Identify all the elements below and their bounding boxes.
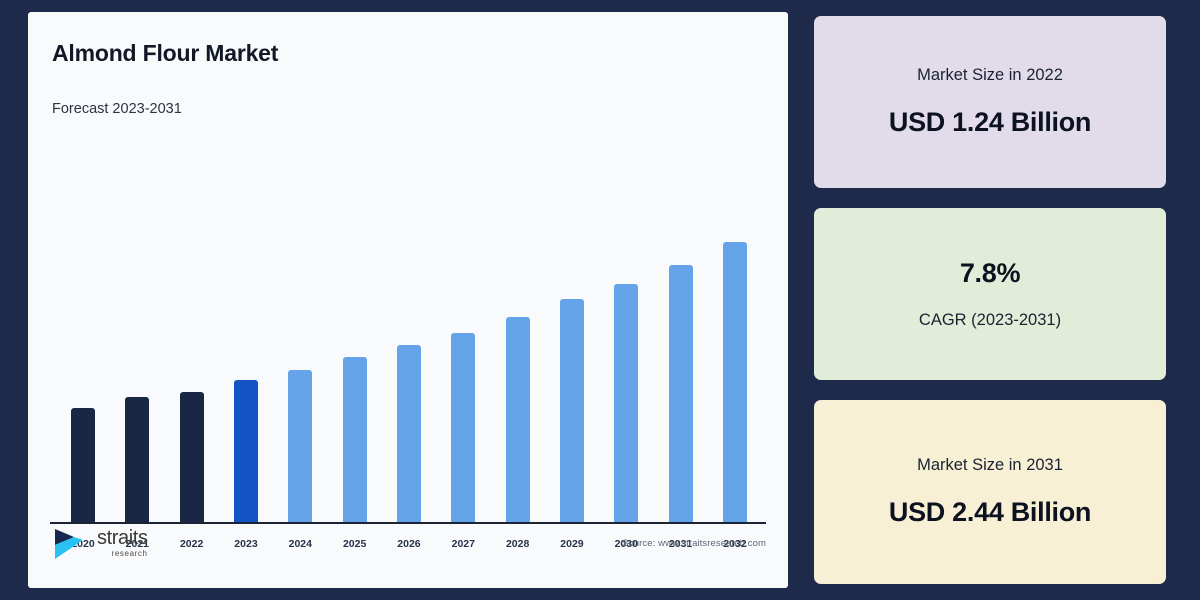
bar-slot — [495, 123, 541, 523]
stat-card-cagr: 7.8% CAGR (2023-2031) — [814, 208, 1166, 380]
logo-subtitle: research — [112, 550, 148, 558]
stat-cards: Market Size in 2022 USD 1.24 Billion 7.8… — [814, 12, 1166, 588]
bar-slot — [332, 123, 378, 523]
straits-research-logo: straits research — [50, 523, 148, 563]
bar — [614, 284, 638, 523]
source-attribution: Source: www.straitsresearch.com — [622, 538, 766, 549]
logo-wordmark: straits research — [97, 528, 148, 558]
bar — [180, 392, 204, 523]
bar-slot — [386, 123, 432, 523]
bar-slot — [440, 123, 486, 523]
bar-series — [60, 123, 758, 523]
chart-subtitle: Forecast 2023-2031 — [52, 101, 766, 117]
bar-slot — [549, 123, 595, 523]
infographic-root: Almond Flour Market Forecast 2023-2031 2… — [0, 0, 1200, 600]
chart-footer: straits research Source: www.straitsrese… — [50, 516, 766, 570]
bar — [288, 370, 312, 523]
bar — [451, 333, 475, 523]
page-title: Almond Flour Market — [52, 40, 766, 67]
stat-card-value: 7.8% — [960, 258, 1020, 289]
bar-slot — [603, 123, 649, 523]
stat-card-label: Market Size in 2022 — [917, 66, 1063, 85]
bar — [125, 397, 149, 523]
bar-slot — [712, 123, 758, 523]
stat-card-market-size-2031: Market Size in 2031 USD 2.44 Billion — [814, 400, 1166, 584]
stat-card-value: USD 2.44 Billion — [889, 497, 1091, 528]
chart-panel: Almond Flour Market Forecast 2023-2031 2… — [28, 12, 788, 588]
bar-slot — [223, 123, 269, 523]
stat-card-market-size-2022: Market Size in 2022 USD 1.24 Billion — [814, 16, 1166, 188]
bar — [560, 299, 584, 523]
stat-card-value: USD 1.24 Billion — [889, 107, 1091, 138]
stat-card-label: Market Size in 2031 — [917, 456, 1063, 475]
bar — [723, 242, 747, 523]
bar-slot — [114, 123, 160, 523]
stat-card-label: CAGR (2023-2031) — [919, 311, 1061, 330]
bar — [234, 380, 258, 523]
logo-arrow-icon — [50, 523, 90, 563]
bar — [71, 408, 95, 523]
bar — [506, 317, 530, 523]
bar — [397, 345, 421, 523]
bar — [669, 265, 693, 523]
bar — [343, 357, 367, 523]
bar-slot — [277, 123, 323, 523]
logo-name: straits — [97, 528, 148, 548]
bar-slot — [60, 123, 106, 523]
bar-slot — [658, 123, 704, 523]
bar-slot — [169, 123, 215, 523]
bar-chart-plot: 2020202120222023202420252026202720282029… — [50, 123, 766, 572]
